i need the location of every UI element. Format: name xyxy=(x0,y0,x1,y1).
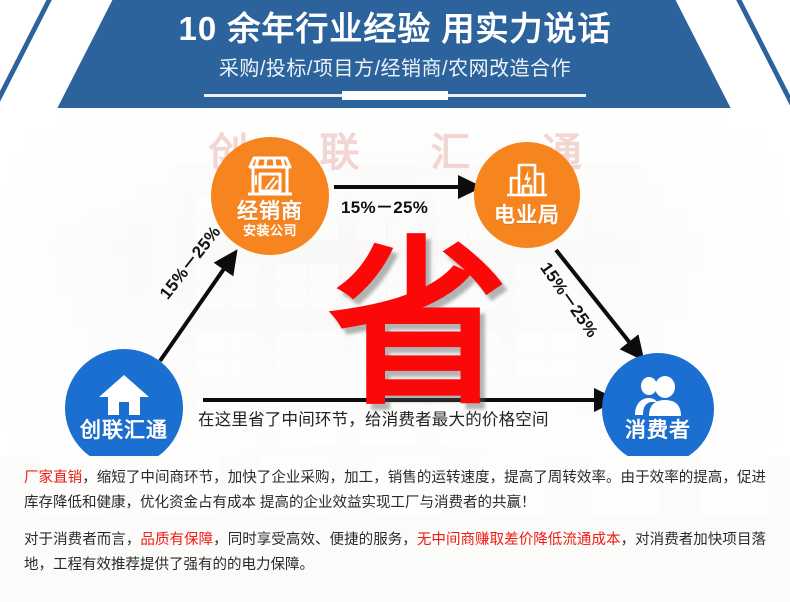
promo-banner: 10 余年行业经验 用实力说话 采购/投标/项目方/经销商/农网改造合作 xyxy=(0,0,790,602)
power-building-icon xyxy=(504,162,550,202)
node-dealer-sublabel: 安装公司 xyxy=(243,224,297,238)
body-text: ，同时享受高效、便捷的服务， xyxy=(213,532,417,548)
node-bureau-label: 电业局 xyxy=(494,205,560,227)
node-company[interactable]: 创联汇通 xyxy=(65,349,183,456)
header-subtitle: 采购/投标/项目方/经销商/农网改造合作 xyxy=(0,48,790,81)
highlighted-text: 无中间商赚取差价降低流通成本 xyxy=(417,532,621,548)
header-banner: 10 余年行业经验 用实力说话 采购/投标/项目方/经销商/农网改造合作 xyxy=(0,0,790,108)
arrow-label-dealer-to-bureau: 15%－25% xyxy=(341,193,428,218)
storefront-icon xyxy=(244,154,296,198)
body-text: 对于消费者而言， xyxy=(24,532,140,548)
savings-character: 省 xyxy=(328,236,508,416)
node-consumer[interactable]: 消费者 xyxy=(602,353,714,456)
node-dealer[interactable]: 经销商 安装公司 xyxy=(211,137,329,255)
page-title: 10 余年行业经验 用实力说话 xyxy=(0,0,790,48)
node-company-label: 创联汇通 xyxy=(80,420,168,442)
node-bureau[interactable]: 电业局 xyxy=(474,142,580,248)
home-icon xyxy=(97,373,151,417)
flow-diagram: 创 联 汇 通 15%－25% 15%－25% 15%－25% 在这里省了中间环… xyxy=(0,108,790,456)
footer-paragraph-1: 厂家直销，缩短了中间商环节，加快了企业采购，加工，销售的运转速度，提高了周转效率… xyxy=(24,466,766,516)
highlighted-text: 品质有保障 xyxy=(140,532,213,548)
highlighted-text: 厂家直销 xyxy=(24,470,82,486)
body-text: ，缩短了中间商环节，加快了企业采购，加工，销售的运转速度，提高了周转效率。由于效… xyxy=(24,470,766,511)
footer-description: 厂家直销，缩短了中间商环节，加快了企业采购，加工，销售的运转速度，提高了周转效率… xyxy=(0,456,790,602)
node-consumer-label: 消费者 xyxy=(625,420,691,442)
people-icon xyxy=(632,375,684,417)
footer-paragraph-2: 对于消费者而言，品质有保障，同时享受高效、便捷的服务，无中间商赚取差价降低流通成… xyxy=(24,528,766,578)
node-dealer-label: 经销商 xyxy=(237,201,303,223)
